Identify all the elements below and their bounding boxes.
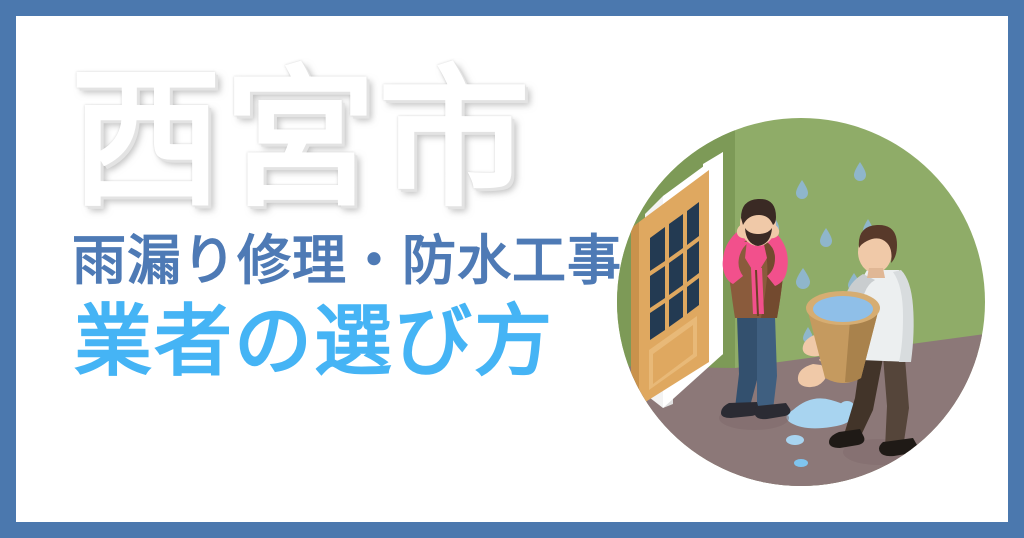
puddle-droplet	[786, 435, 804, 445]
leg-front	[757, 316, 777, 410]
door-slab-edge	[631, 222, 639, 406]
city-title: 西宮市	[70, 64, 616, 216]
text-block: 西宮市 雨漏り修理・防水工事 業者の選び方	[56, 64, 616, 380]
banner-inner-surface: 西宮市 雨漏り修理・防水工事 業者の選び方	[16, 16, 1008, 522]
banner: 西宮市 雨漏り修理・防水工事 業者の選び方	[0, 0, 1024, 538]
bucket-water	[813, 296, 873, 322]
neck	[867, 268, 885, 278]
headline: 業者の選び方	[74, 302, 616, 380]
subtitle: 雨漏り修理・防水工事	[72, 234, 616, 288]
illustration-roof-leak-scene	[617, 118, 985, 486]
puddle-droplet	[794, 459, 808, 467]
